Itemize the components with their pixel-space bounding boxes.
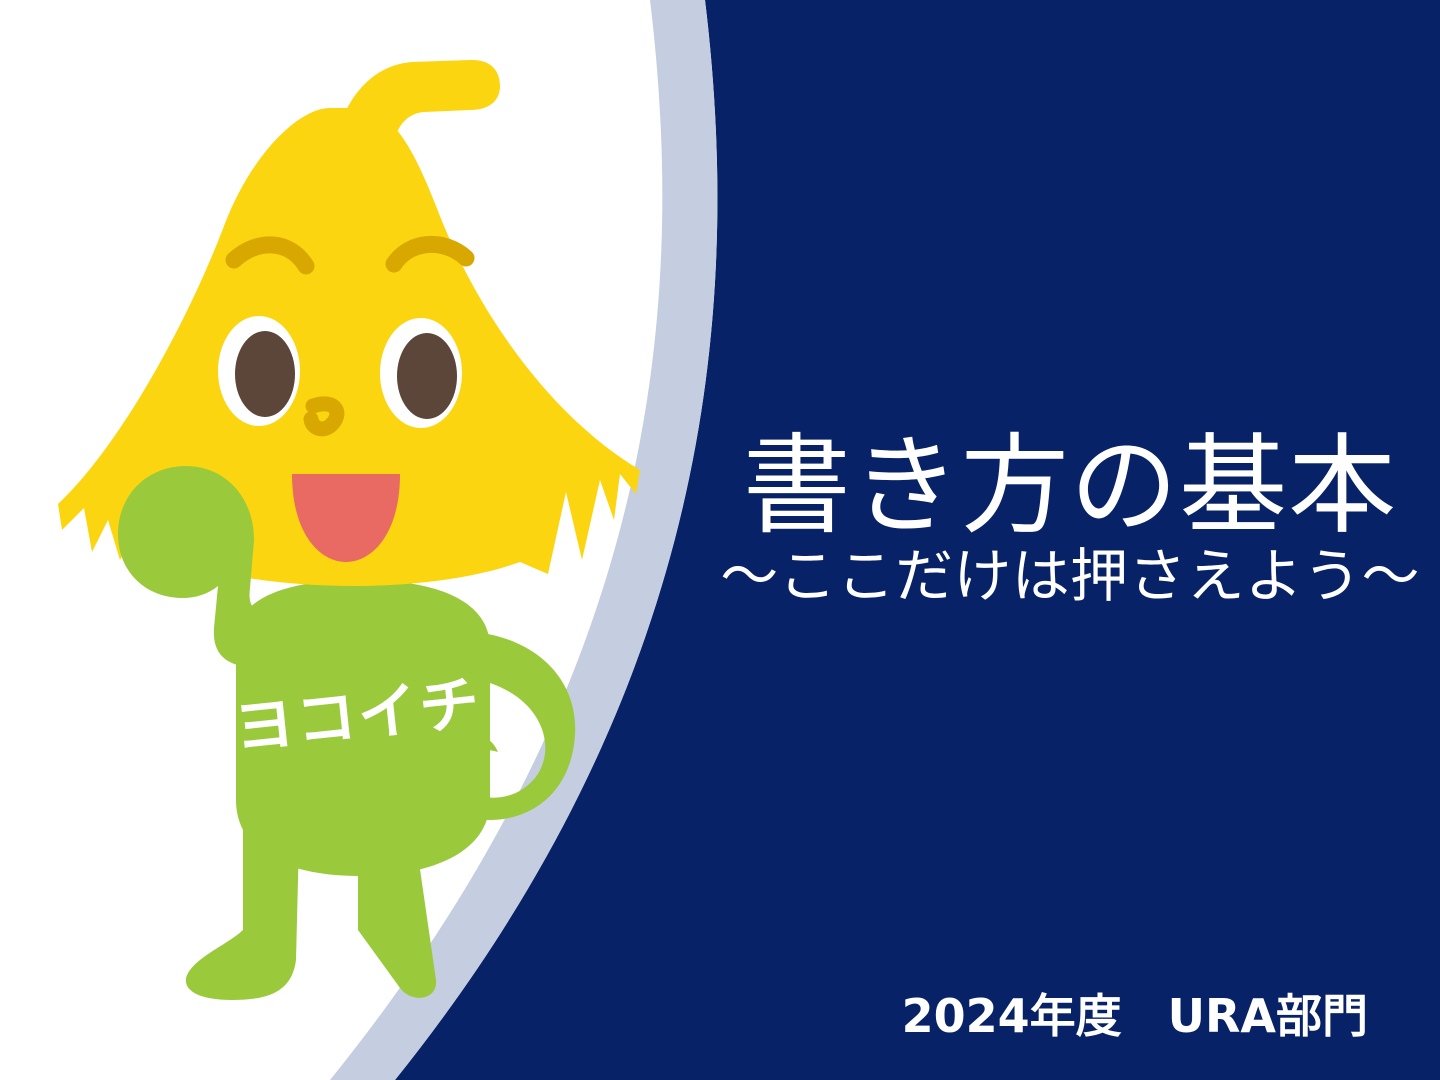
mascot-left-eye-pupil	[235, 331, 295, 417]
slide-canvas: ヨコイチ 書き方の基本 〜ここだけは押さえよう〜 2024年度 URA部門	[0, 0, 1440, 1080]
mascot-yokoichi: ヨコイチ	[0, 0, 720, 1080]
footer-year-department: 2024年度 URA部門	[902, 991, 1368, 1042]
mascot-right-eye-pupil	[397, 333, 457, 419]
footer-block: 2024年度 URA部門	[902, 991, 1368, 1042]
